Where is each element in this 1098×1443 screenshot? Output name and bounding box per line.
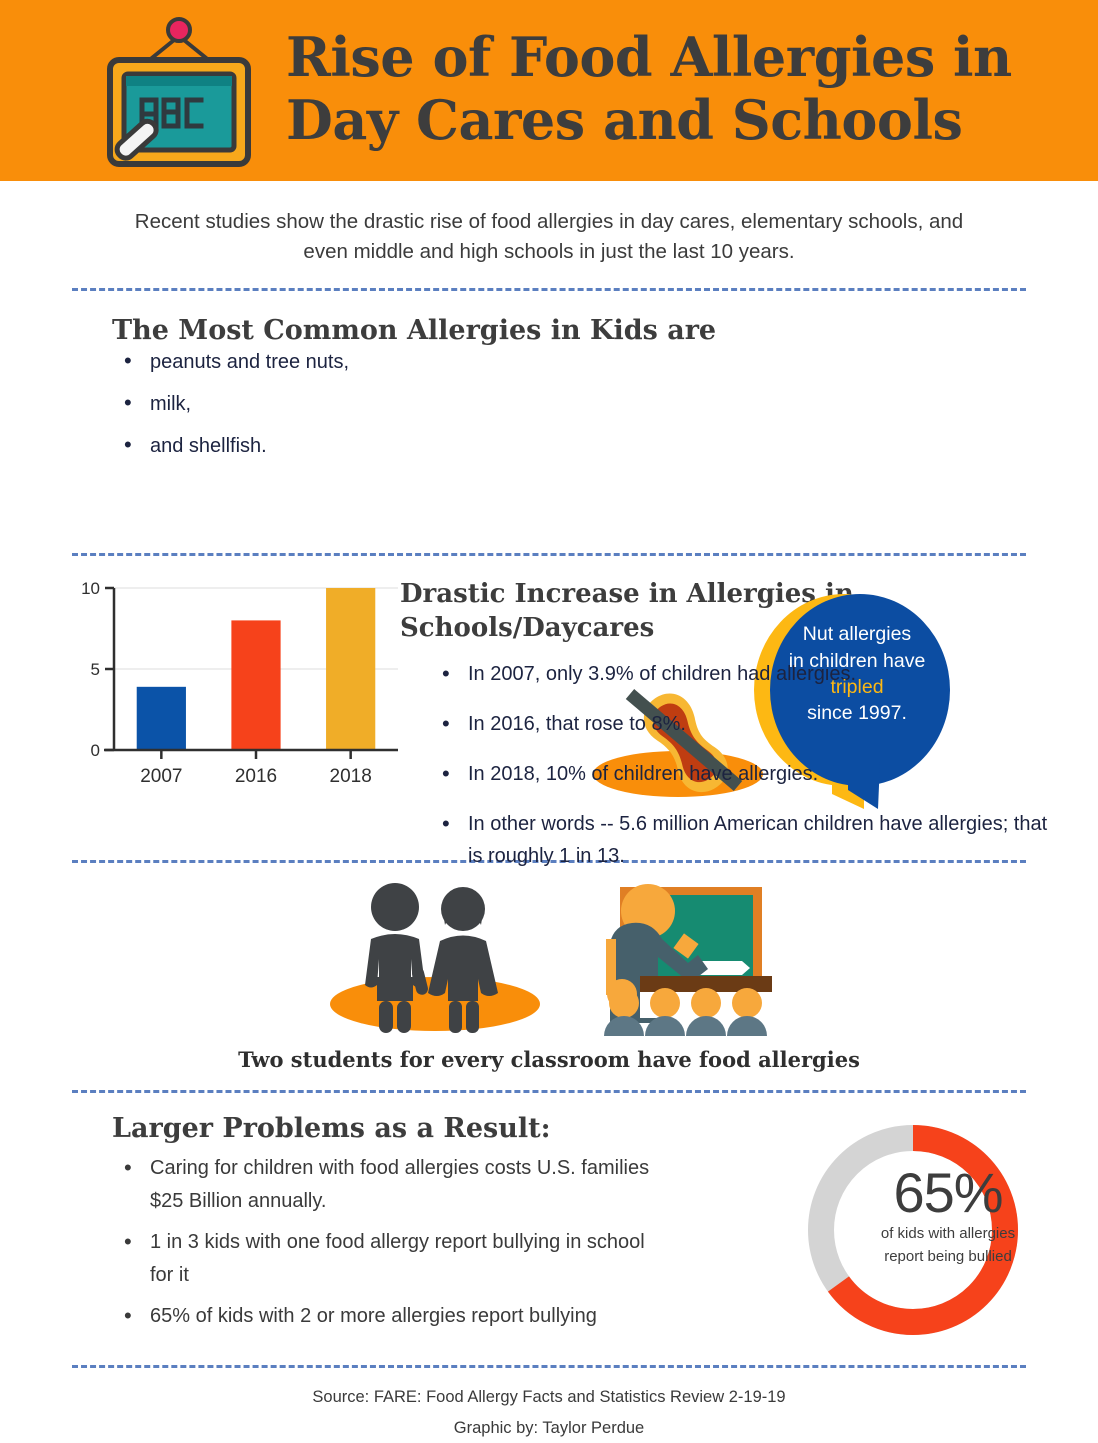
svg-text:5: 5	[91, 660, 100, 679]
svg-text:2007: 2007	[140, 766, 182, 787]
common-allergies-heading: The Most Common Allergies in Kids are	[0, 291, 1098, 346]
page-title: Rise of Food Allergies in Day Cares and …	[286, 26, 1012, 154]
speech-bubble-text: Nut allergies in children have tripled s…	[762, 621, 952, 726]
intro-line-1: Recent studies show the drastic rise of …	[100, 207, 998, 237]
larger-problems-heading: Larger Problems as a Result:	[112, 1113, 798, 1144]
svg-text:2018: 2018	[330, 766, 372, 787]
page-title-line-2: Day Cares and Schools	[286, 89, 1012, 151]
bar-2016	[231, 621, 280, 751]
donut-sub-line-1: of kids with allergies	[798, 1225, 1098, 1243]
drastic-increase-heading-line-2: Schools/Daycares	[400, 612, 1058, 646]
section-larger-problems: Larger Problems as a Result: Caring for …	[0, 1093, 1098, 1343]
section-common-allergies: The Most Common Allergies in Kids are pe…	[0, 291, 1098, 531]
chalkboard-abc-icon	[84, 8, 274, 173]
bar-2007	[137, 687, 186, 750]
drastic-increase-text: Drastic Increase in Allergies in Schools…	[400, 578, 1098, 890]
donut-sub-line-2: report being bullied	[798, 1248, 1098, 1266]
list-item: Caring for children with food allergies …	[150, 1152, 660, 1218]
list-item: milk,	[150, 394, 1098, 414]
list-item: 65% of kids with 2 or more allergies rep…	[150, 1300, 660, 1333]
bubble-highlight: tripled	[762, 674, 952, 700]
svg-text:0: 0	[91, 741, 100, 760]
page-footer: Source: FARE: Food Allergy Facts and Sta…	[0, 1368, 1098, 1443]
page-body: Recent studies show the drastic rise of …	[0, 181, 1098, 1443]
footer-source: Source: FARE: Food Allergy Facts and Sta…	[0, 1382, 1098, 1413]
allergy-bar-chart: 0510200720162018	[0, 578, 400, 808]
svg-text:2016: 2016	[235, 766, 277, 787]
teacher-classroom-icon	[582, 881, 772, 1041]
drastic-increase-heading: Drastic Increase in Allergies in Schools…	[400, 578, 1058, 646]
larger-problems-text: Larger Problems as a Result: Caring for …	[0, 1113, 798, 1341]
footer-credit: Graphic by: Taylor Perdue	[0, 1413, 1098, 1443]
list-item: In other words -- 5.6 million American c…	[468, 808, 1058, 872]
list-item: and shellfish.	[150, 436, 1098, 456]
donut-center-label: 65% of kids with allergies report being …	[798, 1165, 1098, 1266]
page-header: Rise of Food Allergies in Day Cares and …	[0, 0, 1098, 181]
bubble-line-2: in children have	[762, 648, 952, 674]
larger-problems-list: Caring for children with food allergies …	[112, 1152, 798, 1333]
section-students: Two students for every classroom have fo…	[0, 863, 1098, 1068]
bar-2018	[326, 588, 375, 750]
two-children-icon	[327, 881, 542, 1041]
list-item: peanuts and tree nuts,	[150, 352, 1098, 372]
list-item: In 2018, 10% of children have allergies.	[468, 758, 1058, 790]
drastic-increase-heading-line-1: Drastic Increase in Allergies in	[400, 578, 1058, 612]
donut-percent: 65%	[798, 1165, 1098, 1221]
bubble-line-3: since 1997.	[762, 700, 952, 726]
svg-text:10: 10	[81, 579, 100, 598]
students-caption: Two students for every classroom have fo…	[0, 1047, 1098, 1072]
page-title-line-1: Rise of Food Allergies in	[286, 26, 1012, 88]
intro-paragraph: Recent studies show the drastic rise of …	[0, 181, 1098, 266]
list-item: 1 in 3 kids with one food allergy report…	[150, 1226, 660, 1292]
bubble-line-1: Nut allergies	[762, 621, 952, 647]
common-allergies-list: peanuts and tree nuts, milk, and shellfi…	[0, 352, 1098, 456]
intro-line-2: even middle and high schools in just the…	[100, 237, 998, 267]
bullying-donut-chart: 65% of kids with allergies report being …	[798, 1113, 1098, 1350]
students-art-row	[0, 881, 1098, 1041]
